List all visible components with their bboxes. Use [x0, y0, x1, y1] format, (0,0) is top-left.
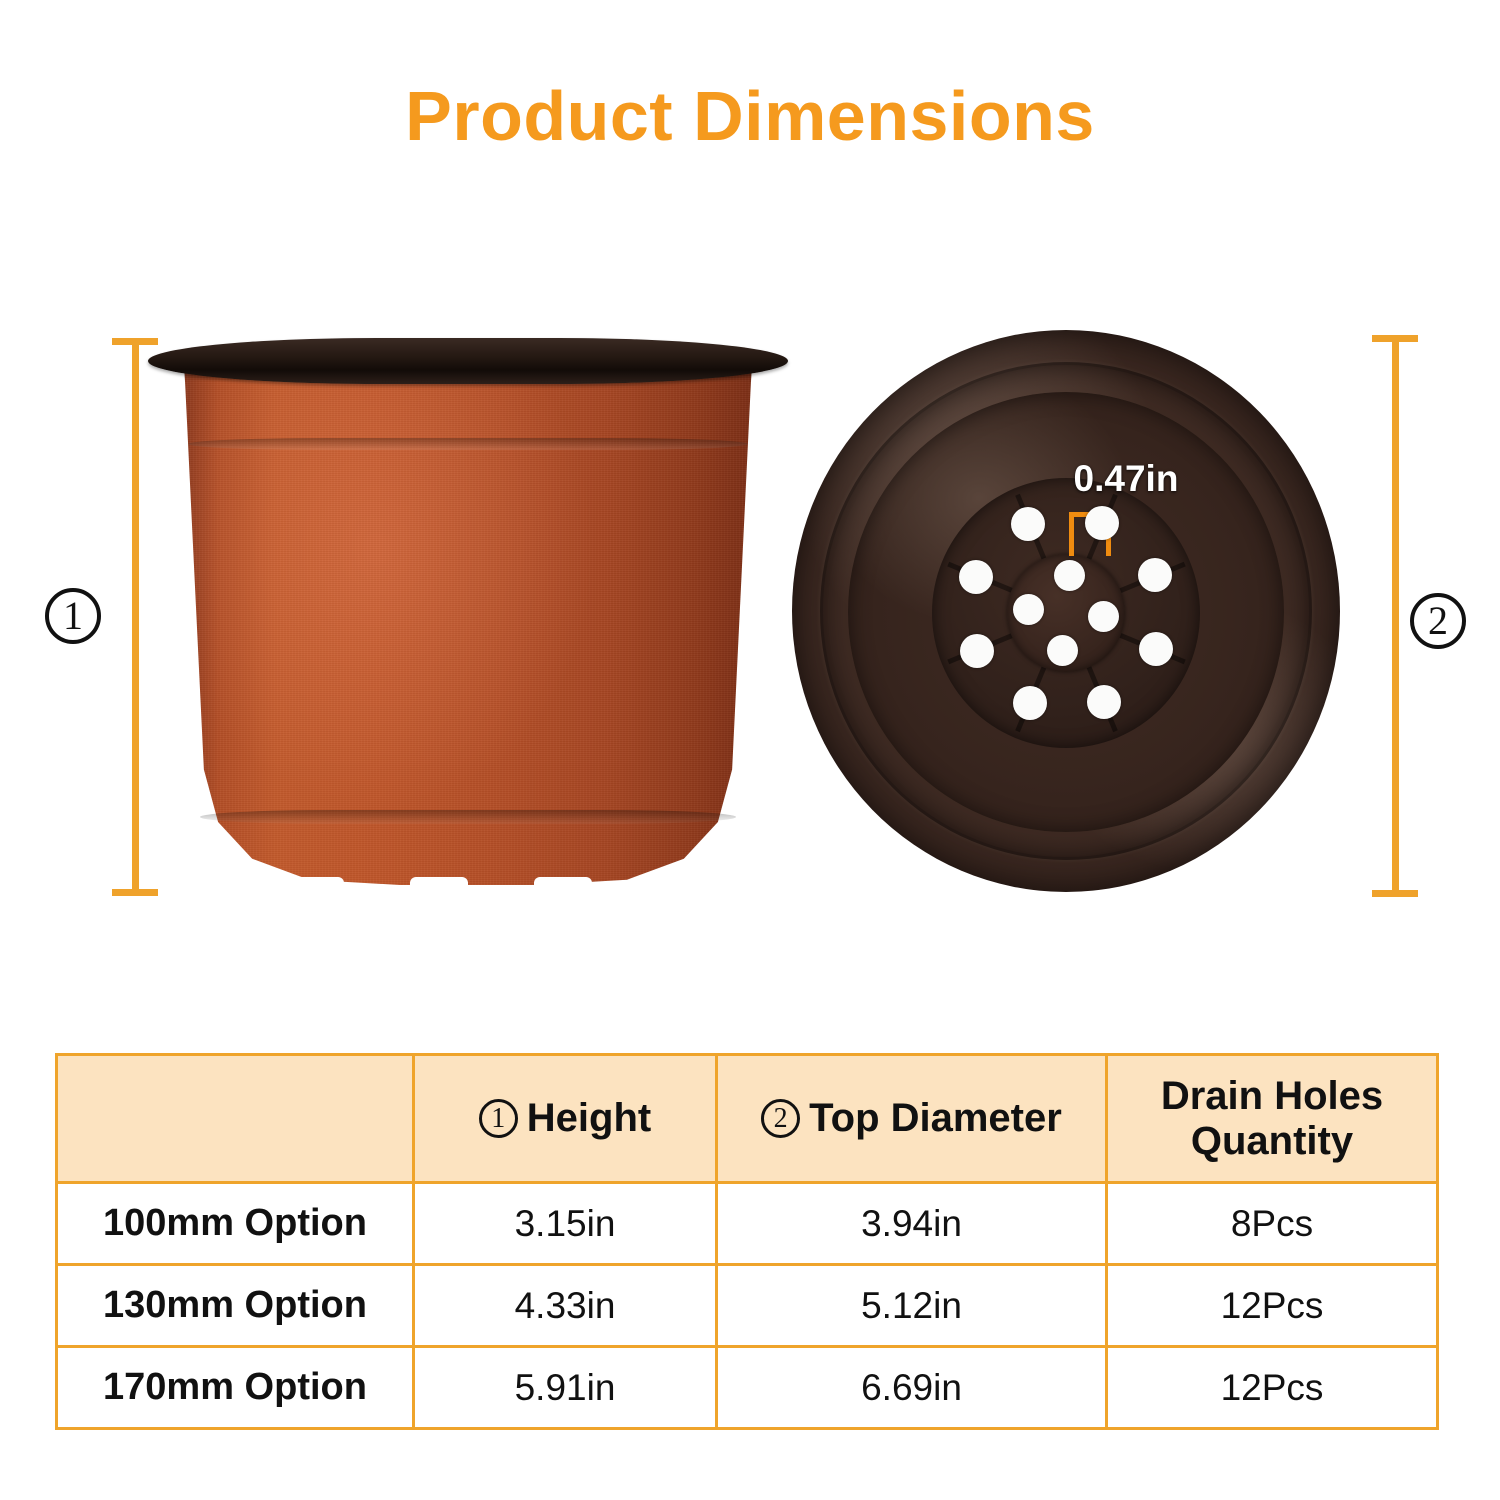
cell-top-diameter: 6.69in [717, 1347, 1107, 1429]
height-index-marker-icon: 1 [479, 1099, 518, 1138]
table-header-row: 1Height 2Top Diameter Drain Holes Quanti… [57, 1055, 1438, 1183]
header-cell-option [57, 1055, 414, 1183]
table-row: 130mm Option4.33in5.12in12Pcs [57, 1265, 1438, 1347]
dimension-cap-bottom [1372, 890, 1418, 897]
header-label-height: Height [527, 1096, 651, 1140]
cell-drain-holes: 12Pcs [1107, 1347, 1438, 1429]
dimension-shaft [132, 338, 139, 896]
drain-hole [1011, 507, 1045, 541]
cell-height: 3.15in [414, 1183, 717, 1265]
pot-rim-lip [148, 338, 788, 384]
drain-hole [1013, 594, 1044, 625]
height-index-marker: 1 [45, 588, 101, 644]
drain-holes-group [932, 478, 1200, 748]
specification-table: 1Height 2Top Diameter Drain Holes Quanti… [55, 1053, 1439, 1430]
header-label-drain-line2: Quantity [1191, 1119, 1353, 1163]
drain-hole [1088, 601, 1119, 632]
header-label-top-diameter: Top Diameter [809, 1096, 1062, 1140]
drain-hole [1087, 685, 1121, 719]
pot-bottom-view-image: 0.47in [786, 322, 1346, 902]
cell-drain-holes: 12Pcs [1107, 1265, 1438, 1347]
drain-hole [1139, 632, 1173, 666]
table-body: 100mm Option3.15in3.94in8Pcs130mm Option… [57, 1183, 1438, 1429]
drain-hole [1013, 686, 1047, 720]
drain-hole [1054, 560, 1085, 591]
cell-height: 4.33in [414, 1265, 717, 1347]
cell-drain-holes: 8Pcs [1107, 1183, 1438, 1265]
drain-hole-plate [932, 478, 1200, 748]
diameter-index-marker: 2 [1410, 593, 1466, 649]
drain-hole [1047, 635, 1078, 666]
cell-option: 130mm Option [57, 1265, 414, 1347]
drain-hole [959, 560, 993, 594]
pot-foot-notch [410, 877, 468, 890]
diameter-index-marker-icon: 2 [761, 1099, 800, 1138]
cell-height: 5.91in [414, 1347, 717, 1429]
cell-option: 170mm Option [57, 1347, 414, 1429]
drain-hole [1085, 506, 1119, 540]
drain-hole [960, 634, 994, 668]
pot-ridge [188, 438, 748, 450]
dimension-shaft [1392, 335, 1399, 897]
cell-top-diameter: 3.94in [717, 1183, 1107, 1265]
pot-foot-notch [286, 877, 344, 890]
pot-side-view-image [148, 330, 788, 900]
product-image-stage: 1 0.47in 2 [0, 300, 1500, 950]
drain-hole [1138, 558, 1172, 592]
page-title: Product Dimensions [0, 78, 1500, 155]
pot-base-band [200, 810, 736, 824]
pot-foot-notch [534, 877, 592, 890]
header-cell-height: 1Height [414, 1055, 717, 1183]
cell-top-diameter: 5.12in [717, 1265, 1107, 1347]
header-label-drain-line1: Drain Holes [1161, 1074, 1383, 1118]
table-row: 100mm Option3.15in3.94in8Pcs [57, 1183, 1438, 1265]
header-cell-top-diameter: 2Top Diameter [717, 1055, 1107, 1183]
table-row: 170mm Option5.91in6.69in12Pcs [57, 1347, 1438, 1429]
cell-option: 100mm Option [57, 1183, 414, 1265]
header-cell-drain-holes: Drain Holes Quantity [1107, 1055, 1438, 1183]
